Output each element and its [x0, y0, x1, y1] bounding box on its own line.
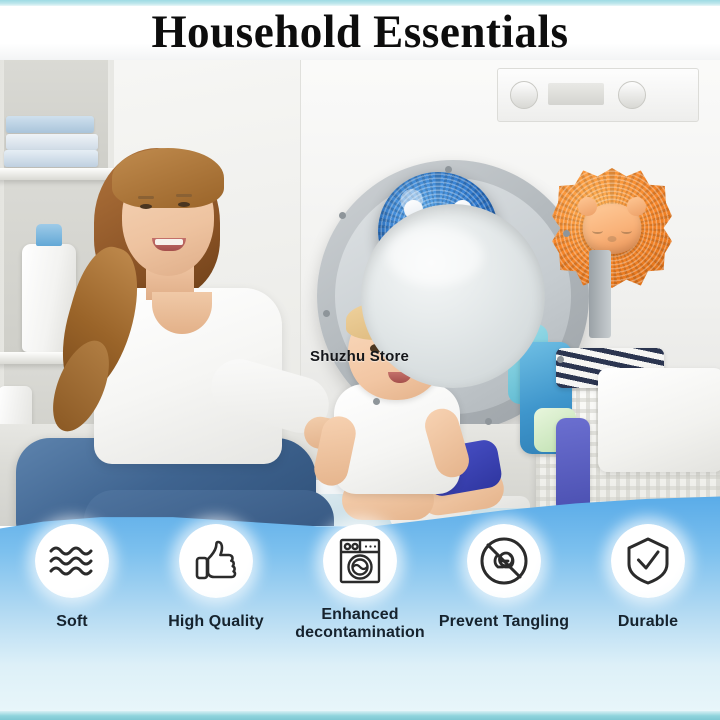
feature-label: Prevent Tangling: [439, 613, 569, 631]
hero-photo: [0, 56, 720, 526]
title-band: Household Essentials: [0, 4, 720, 60]
folded-towel: [6, 116, 94, 133]
shield-check-icon: [611, 524, 685, 598]
feature-soft: Soft: [0, 524, 144, 631]
feature-label: Soft: [56, 613, 88, 631]
thumbs-up-icon: [179, 524, 253, 598]
laundry-item: [598, 368, 720, 472]
machine-knob: [618, 81, 646, 109]
machine-control-panel: [497, 68, 699, 122]
feature-label: High Quality: [168, 613, 263, 631]
product-marketing-image: Household Essentials: [0, 0, 720, 720]
feature-prevent-tangling: Prevent Tangling: [432, 524, 576, 631]
machine-knob: [510, 81, 538, 109]
bear-face-center: [583, 204, 641, 254]
feature-enhanced-decontamination: Enhanced decontamination: [288, 524, 432, 643]
feature-label: Enhanced decontamination: [288, 606, 432, 643]
no-tangle-icon: [467, 524, 541, 598]
machine-detergent-slot: [548, 83, 604, 105]
store-watermark: Shuzhu Store: [310, 348, 409, 365]
page-title: Household Essentials: [14, 4, 705, 60]
feature-durable: Durable: [576, 524, 720, 631]
feature-label: Durable: [618, 613, 678, 631]
washing-machine-icon: [323, 524, 397, 598]
feature-high-quality: High Quality: [144, 524, 288, 631]
feature-list: Soft High Quality: [0, 492, 720, 720]
top-teal-strip: [0, 0, 720, 6]
orange-lint-catcher-ball: [552, 168, 672, 288]
bottom-teal-strip: [0, 711, 720, 720]
machine-door-hinge: [589, 250, 611, 338]
waves-icon: [35, 524, 109, 598]
